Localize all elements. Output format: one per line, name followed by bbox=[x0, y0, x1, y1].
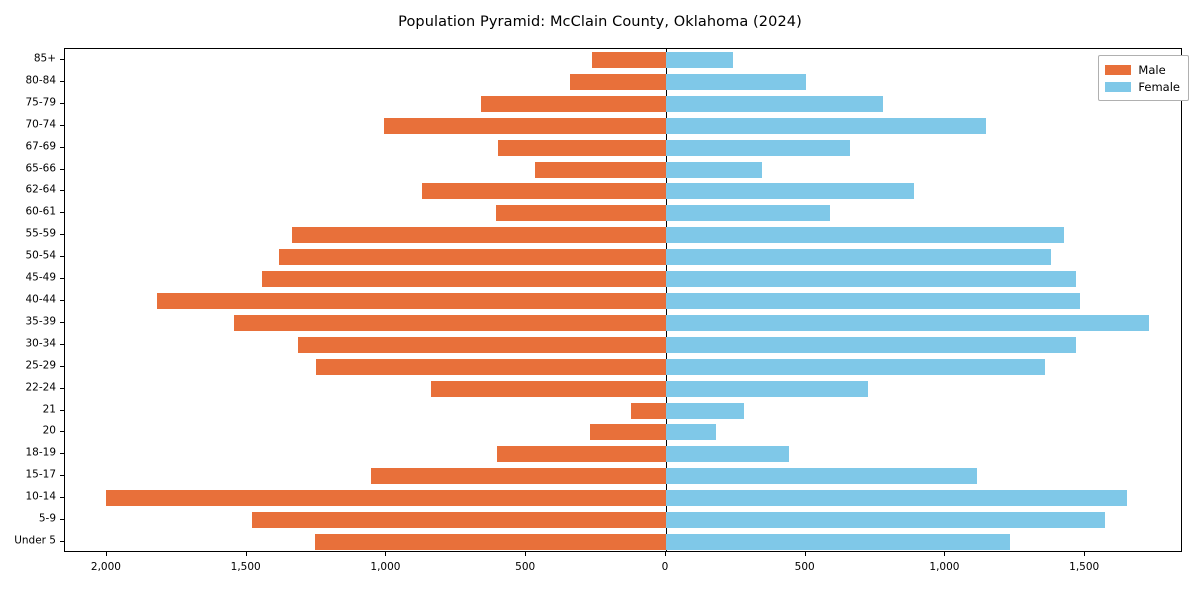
x-tick-mark bbox=[246, 552, 247, 556]
x-tick-label: 1,000 bbox=[370, 561, 400, 573]
x-tick-mark bbox=[665, 552, 666, 556]
x-tick-mark bbox=[805, 552, 806, 556]
x-tick-label: 0 bbox=[662, 561, 669, 573]
legend-item-female: Female bbox=[1105, 78, 1180, 95]
legend-label-female: Female bbox=[1138, 80, 1180, 94]
legend-label-male: Male bbox=[1138, 63, 1165, 77]
x-tick-mark bbox=[385, 552, 386, 556]
x-tick-label: 1,500 bbox=[231, 561, 261, 573]
x-axis: 2,0001,5001,00050005001,0001,500 bbox=[0, 0, 1200, 600]
legend-swatch-female-icon bbox=[1105, 82, 1131, 92]
x-tick-label: 2,000 bbox=[91, 561, 121, 573]
x-tick-label: 1,000 bbox=[929, 561, 959, 573]
x-tick-label: 1,500 bbox=[1069, 561, 1099, 573]
x-tick-mark bbox=[525, 552, 526, 556]
x-tick-mark bbox=[944, 552, 945, 556]
legend-item-male: Male bbox=[1105, 61, 1180, 78]
x-tick-mark bbox=[1084, 552, 1085, 556]
x-tick-label: 500 bbox=[795, 561, 815, 573]
legend-swatch-male-icon bbox=[1105, 65, 1131, 75]
x-tick-label: 500 bbox=[515, 561, 535, 573]
chart-legend: Male Female bbox=[1098, 55, 1189, 101]
chart-figure: Population Pyramid: McClain County, Okla… bbox=[0, 0, 1200, 600]
x-tick-mark bbox=[106, 552, 107, 556]
